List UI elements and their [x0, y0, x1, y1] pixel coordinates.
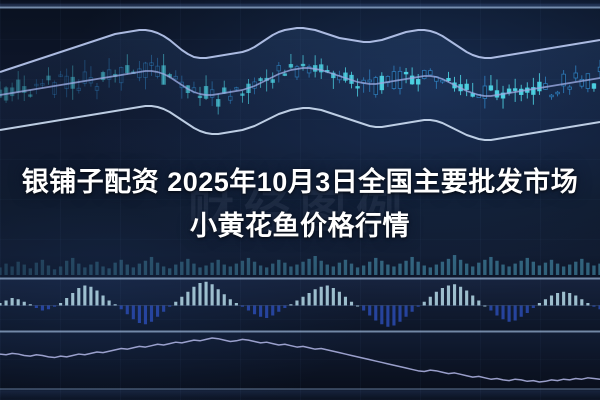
banner-title: 银铺子配资 2025年10月3日全国主要批发市场 小黄花鱼价格行情 [0, 160, 600, 248]
macd-bottom-divider [0, 330, 600, 333]
title-line-2: 小黄花鱼价格行情 [18, 204, 582, 248]
top-divider [0, 6, 600, 9]
title-line-1: 银铺子配资 2025年10月3日全国主要批发市场 [18, 160, 582, 204]
macd-top-divider [0, 277, 600, 280]
chart-banner: 财经图例 银铺子配资 2025年10月3日全国主要批发市场 小黄花鱼价格行情 [0, 0, 600, 400]
bottom-divider [0, 388, 600, 390]
